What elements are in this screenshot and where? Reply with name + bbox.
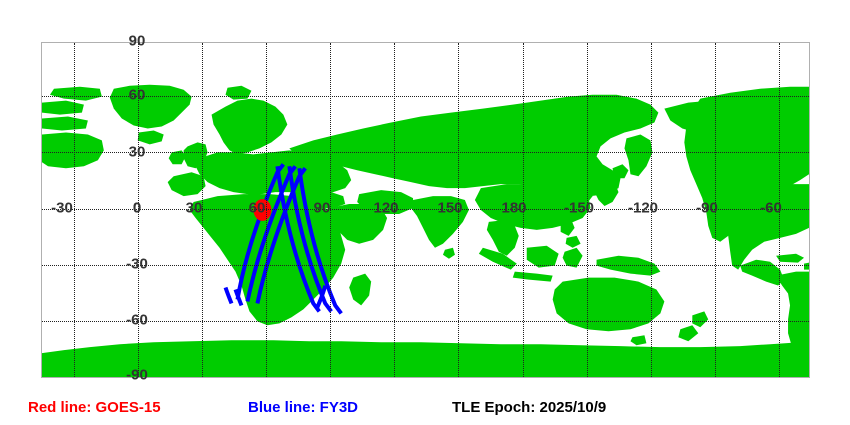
world-map-svg	[42, 43, 809, 377]
land-newzealand-n	[692, 311, 708, 327]
gridline-lon-minus30	[74, 43, 75, 377]
gridline-lat-minus30	[42, 265, 809, 266]
gridline-lat-60	[42, 96, 809, 97]
land-antarctica	[42, 340, 809, 377]
lon-tick-minus90: -90	[696, 201, 718, 216]
land-central-america	[740, 260, 784, 286]
lat-tick-30: 30	[129, 145, 146, 160]
land-canada-arctic-1	[50, 87, 102, 101]
land-philippines-2	[566, 236, 581, 248]
lat-tick-60: 60	[129, 88, 146, 103]
lat-tick-minus60: -60	[126, 313, 148, 328]
land-greenland	[110, 85, 192, 129]
land-canada-east	[42, 132, 104, 168]
legend-blue-line: Blue line: FY3D	[248, 396, 358, 420]
lon-tick-minus150: -150	[564, 201, 594, 216]
land-scandinavia	[212, 99, 288, 155]
land-iberia	[168, 172, 206, 196]
gridline-lon-60	[266, 43, 267, 377]
lon-tick-150: 150	[437, 201, 462, 216]
lat-tick-90: 90	[129, 34, 146, 49]
fy3d-pass-asc-tail-1	[226, 288, 232, 304]
land-cuba	[776, 254, 804, 263]
land-australia	[553, 278, 665, 332]
land-newzealand-s	[678, 325, 698, 341]
legend-red-line: Red line: GOES-15	[28, 396, 161, 420]
satellite-ground-track-page: -30 0 30 60 90 120 150 180 -150 -120 -90…	[0, 0, 850, 425]
lon-tick-120: 120	[373, 201, 398, 216]
legend-tle-epoch: TLE Epoch: 2025/10/9	[452, 396, 606, 420]
lon-tick-180: 180	[501, 201, 526, 216]
land-madagascar	[349, 274, 371, 306]
land-japan-north	[613, 164, 629, 178]
lon-tick-minus30: -30	[51, 201, 73, 216]
lon-tick-30: 30	[186, 201, 203, 216]
gridline-lat-30	[42, 152, 809, 153]
land-kamchatka	[624, 134, 652, 176]
land-iceland	[138, 130, 164, 144]
gridline-lat-0	[42, 209, 809, 210]
lon-tick-minus120: -120	[628, 201, 658, 216]
land-tasmania	[630, 335, 646, 345]
land-canada-arctic-2	[42, 101, 84, 115]
legend: Red line: GOES-15 Blue line: FY3D TLE Ep…	[0, 396, 850, 420]
lon-tick-60: 60	[249, 201, 266, 216]
lat-tick-0: 0	[133, 201, 141, 216]
land-svalbard	[226, 86, 252, 100]
lon-tick-90: 90	[314, 201, 331, 216]
land-hispaniola	[804, 263, 809, 270]
land-canada-arctic-3	[42, 117, 88, 131]
gridline-lat-minus60	[42, 321, 809, 322]
land-java	[513, 272, 553, 282]
land-srilanka	[443, 248, 455, 259]
world-map-plot	[41, 42, 810, 378]
lat-tick-minus30: -30	[126, 257, 148, 272]
lat-tick-minus90: -90	[126, 368, 148, 383]
landmass-layer	[42, 85, 809, 377]
lon-tick-minus60: -60	[760, 201, 782, 216]
